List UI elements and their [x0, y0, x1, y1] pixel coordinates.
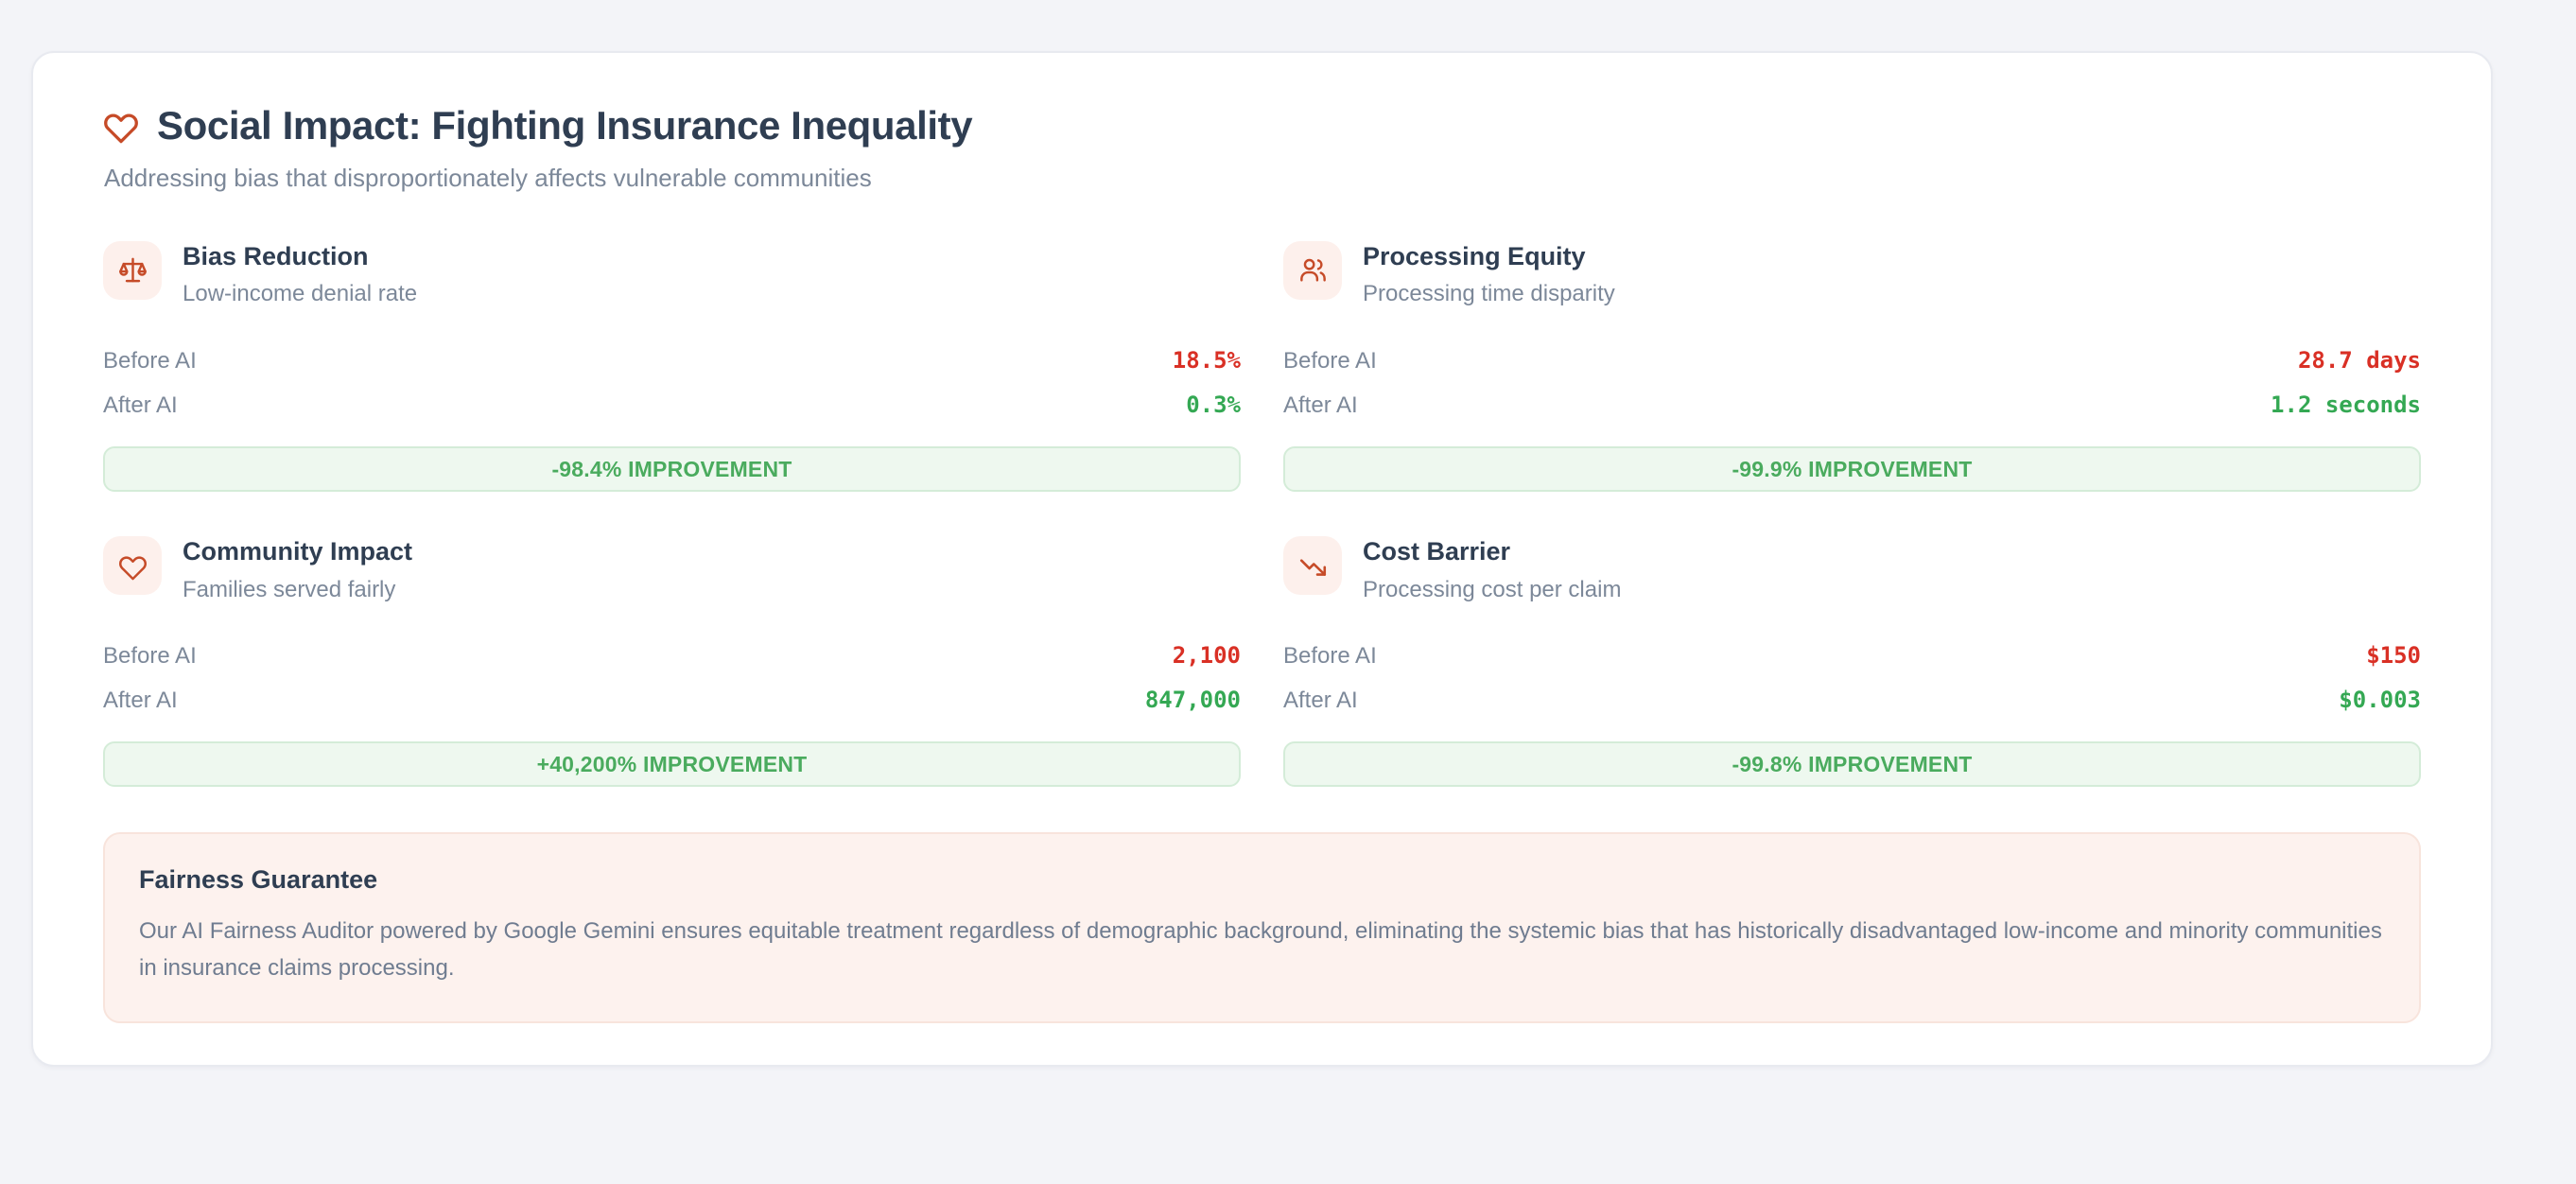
fairness-guarantee-text: Our AI Fairness Auditor powered by Googl…: [139, 914, 2385, 987]
metric-header-text: Cost Barrier Processing cost per claim: [1363, 534, 1621, 603]
metric-row-before: Before AI $150: [1283, 634, 2421, 678]
metric-card-bias-reduction: Bias Reduction Low-income denial rate Be…: [103, 239, 1241, 534]
title-row: Social Impact: Fighting Insurance Inequa…: [103, 104, 2442, 148]
before-value: 18.5%: [1173, 347, 1241, 374]
improvement-badge: -98.4% IMPROVEMENT: [103, 446, 1241, 492]
heart-icon: [103, 536, 162, 595]
metric-header-text: Processing Equity Processing time dispar…: [1363, 239, 1615, 308]
before-label: Before AI: [1283, 643, 1377, 670]
metric-title: Processing Equity: [1363, 241, 1615, 271]
metric-rows: Before AI $150 After AI $0.003: [1283, 634, 2421, 723]
metric-row-after: After AI $0.003: [1283, 678, 2421, 723]
fairness-guarantee-title: Fairness Guarantee: [139, 864, 2385, 895]
page-title: Social Impact: Fighting Insurance Inequa…: [157, 104, 972, 148]
after-label: After AI: [103, 688, 178, 714]
scales-icon: [103, 241, 162, 300]
metric-grid: Bias Reduction Low-income denial rate Be…: [82, 239, 2442, 829]
after-label: After AI: [1283, 688, 1358, 714]
improvement-badge: -99.8% IMPROVEMENT: [1283, 741, 2421, 787]
metric-header: Community Impact Families served fairly: [103, 534, 1241, 603]
improvement-badge: -99.9% IMPROVEMENT: [1283, 446, 2421, 492]
metric-header: Cost Barrier Processing cost per claim: [1283, 534, 2421, 603]
heart-icon: [103, 108, 139, 144]
after-label: After AI: [1283, 392, 1358, 419]
page-root: Social Impact: Fighting Insurance Inequa…: [0, 0, 2576, 1184]
metric-rows: Before AI 28.7 days After AI 1.2 seconds: [1283, 339, 2421, 427]
metric-card-cost-barrier: Cost Barrier Processing cost per claim B…: [1283, 534, 2421, 829]
metric-row-after: After AI 1.2 seconds: [1283, 383, 2421, 427]
metric-header-text: Bias Reduction Low-income denial rate: [183, 239, 417, 308]
metric-header-text: Community Impact Families served fairly: [183, 534, 412, 603]
metric-card-processing-equity: Processing Equity Processing time dispar…: [1283, 239, 2421, 534]
metric-row-after: After AI 0.3%: [103, 383, 1241, 427]
metric-row-before: Before AI 18.5%: [103, 339, 1241, 383]
metric-row-before: Before AI 2,100: [103, 634, 1241, 678]
users-icon: [1283, 241, 1342, 300]
metric-rows: Before AI 18.5% After AI 0.3%: [103, 339, 1241, 427]
before-label: Before AI: [103, 643, 197, 670]
metric-header: Processing Equity Processing time dispar…: [1283, 239, 2421, 308]
before-value: 28.7 days: [2298, 347, 2421, 374]
metric-subtitle: Families served fairly: [183, 577, 412, 604]
metric-subtitle: Low-income denial rate: [183, 281, 417, 308]
metric-rows: Before AI 2,100 After AI 847,000: [103, 634, 1241, 723]
after-value: 847,000: [1145, 687, 1241, 713]
social-impact-panel: Social Impact: Fighting Insurance Inequa…: [31, 51, 2493, 1067]
metric-subtitle: Processing cost per claim: [1363, 577, 1621, 604]
page-subtitle: Addressing bias that disproportionately …: [104, 163, 2442, 195]
trending-down-icon: [1283, 536, 1342, 595]
after-label: After AI: [103, 392, 178, 419]
before-value: $150: [2366, 642, 2421, 669]
metric-card-community-impact: Community Impact Families served fairly …: [103, 534, 1241, 829]
metric-title: Community Impact: [183, 536, 412, 566]
before-value: 2,100: [1173, 642, 1241, 669]
after-value: $0.003: [2339, 687, 2421, 713]
metric-title: Cost Barrier: [1363, 536, 1621, 566]
before-label: Before AI: [103, 348, 197, 374]
metric-header: Bias Reduction Low-income denial rate: [103, 239, 1241, 308]
improvement-badge: +40,200% IMPROVEMENT: [103, 741, 1241, 787]
metric-title: Bias Reduction: [183, 241, 417, 271]
after-value: 1.2 seconds: [2271, 392, 2421, 418]
metric-subtitle: Processing time disparity: [1363, 281, 1615, 308]
panel-header: Social Impact: Fighting Insurance Inequa…: [82, 91, 2442, 195]
after-value: 0.3%: [1186, 392, 1241, 418]
metric-row-before: Before AI 28.7 days: [1283, 339, 2421, 383]
before-label: Before AI: [1283, 348, 1377, 374]
metric-row-after: After AI 847,000: [103, 678, 1241, 723]
fairness-guarantee-box: Fairness Guarantee Our AI Fairness Audit…: [103, 832, 2421, 1022]
